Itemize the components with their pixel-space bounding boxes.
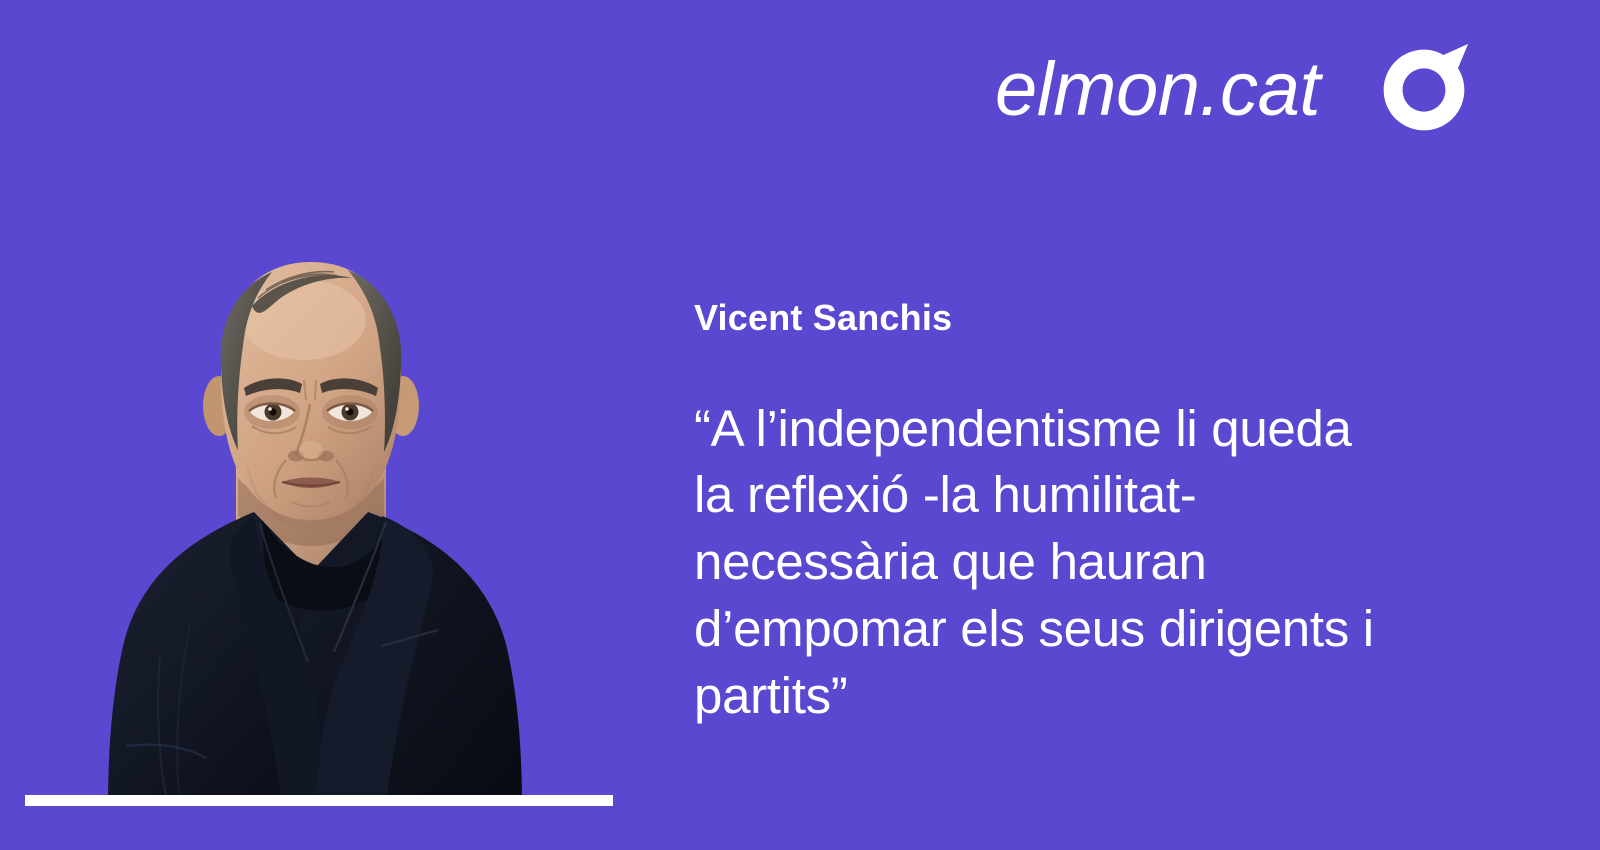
elmon-spiral-logo-icon bbox=[1376, 42, 1472, 138]
speaker-portrait bbox=[86, 254, 536, 806]
white-rule bbox=[25, 795, 613, 806]
speaker-name: Vicent Sanchis bbox=[694, 298, 1484, 338]
quote-card: elmon.cat bbox=[0, 0, 1600, 850]
quote-text: “A l’independentisme li queda la reflexi… bbox=[694, 396, 1484, 730]
brand-header: elmon.cat bbox=[995, 42, 1472, 138]
quote-text-block: Vicent Sanchis “A l’independentisme li q… bbox=[694, 298, 1484, 730]
brand-wordmark: elmon.cat bbox=[995, 52, 1320, 128]
